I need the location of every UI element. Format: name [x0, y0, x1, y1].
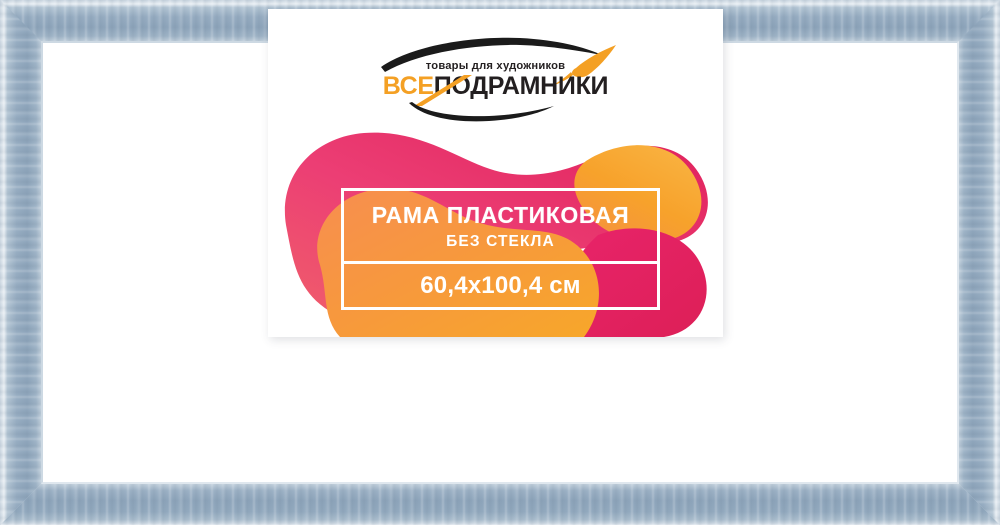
frame-rail-left: [0, 0, 44, 525]
product-subtitle: БЕЗ СТЕКЛА: [446, 234, 555, 250]
brand-wordmark: ВСЕПОДРАМНИКИ: [383, 72, 608, 100]
product-photo: товары для художников ВСЕПОДРАМНИКИ: [0, 0, 1000, 525]
brand-wordmark-rest: ПОДРАМНИКИ: [434, 72, 609, 100]
wood-grain-texture: [0, 481, 1000, 525]
brand-logo-svg: товары для художников ВСЕПОДРАМНИКИ: [268, 31, 723, 123]
wood-grain-texture: [0, 0, 44, 525]
product-size: 60,4x100,4 см: [420, 274, 581, 298]
frame-rail-bottom: [0, 481, 1000, 525]
frame-rail-right: [956, 0, 1000, 525]
product-title-box: РАМА ПЛАСТИКОВАЯ БЕЗ СТЕКЛА: [341, 188, 660, 261]
product-label-card: товары для художников ВСЕПОДРАМНИКИ: [268, 9, 723, 337]
brand-tagline: товары для художников: [426, 60, 565, 72]
wood-grain-texture: [956, 0, 1000, 525]
product-title: РАМА ПЛАСТИКОВАЯ: [372, 204, 630, 227]
product-size-box: 60,4x100,4 см: [341, 261, 660, 310]
brand-wordmark-accent: ВСЕ: [383, 72, 434, 100]
brand-logo: товары для художников ВСЕПОДРАМНИКИ: [268, 31, 723, 123]
